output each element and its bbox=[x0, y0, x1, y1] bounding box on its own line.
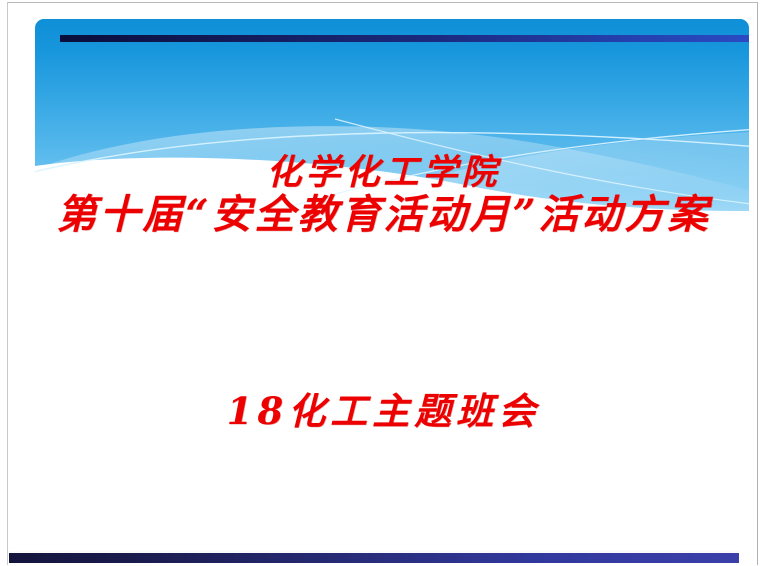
banner-wave-artwork bbox=[35, 19, 749, 211]
header-accent-rule bbox=[60, 35, 749, 42]
slide-canvas: 化学化工学院 第十届“安全教育活动月”活动方案 18化工主题班会 bbox=[7, 2, 758, 565]
page-subtitle: 18化工主题班会 bbox=[8, 381, 758, 435]
header-banner bbox=[35, 19, 749, 211]
footer-accent-bar bbox=[9, 553, 739, 563]
